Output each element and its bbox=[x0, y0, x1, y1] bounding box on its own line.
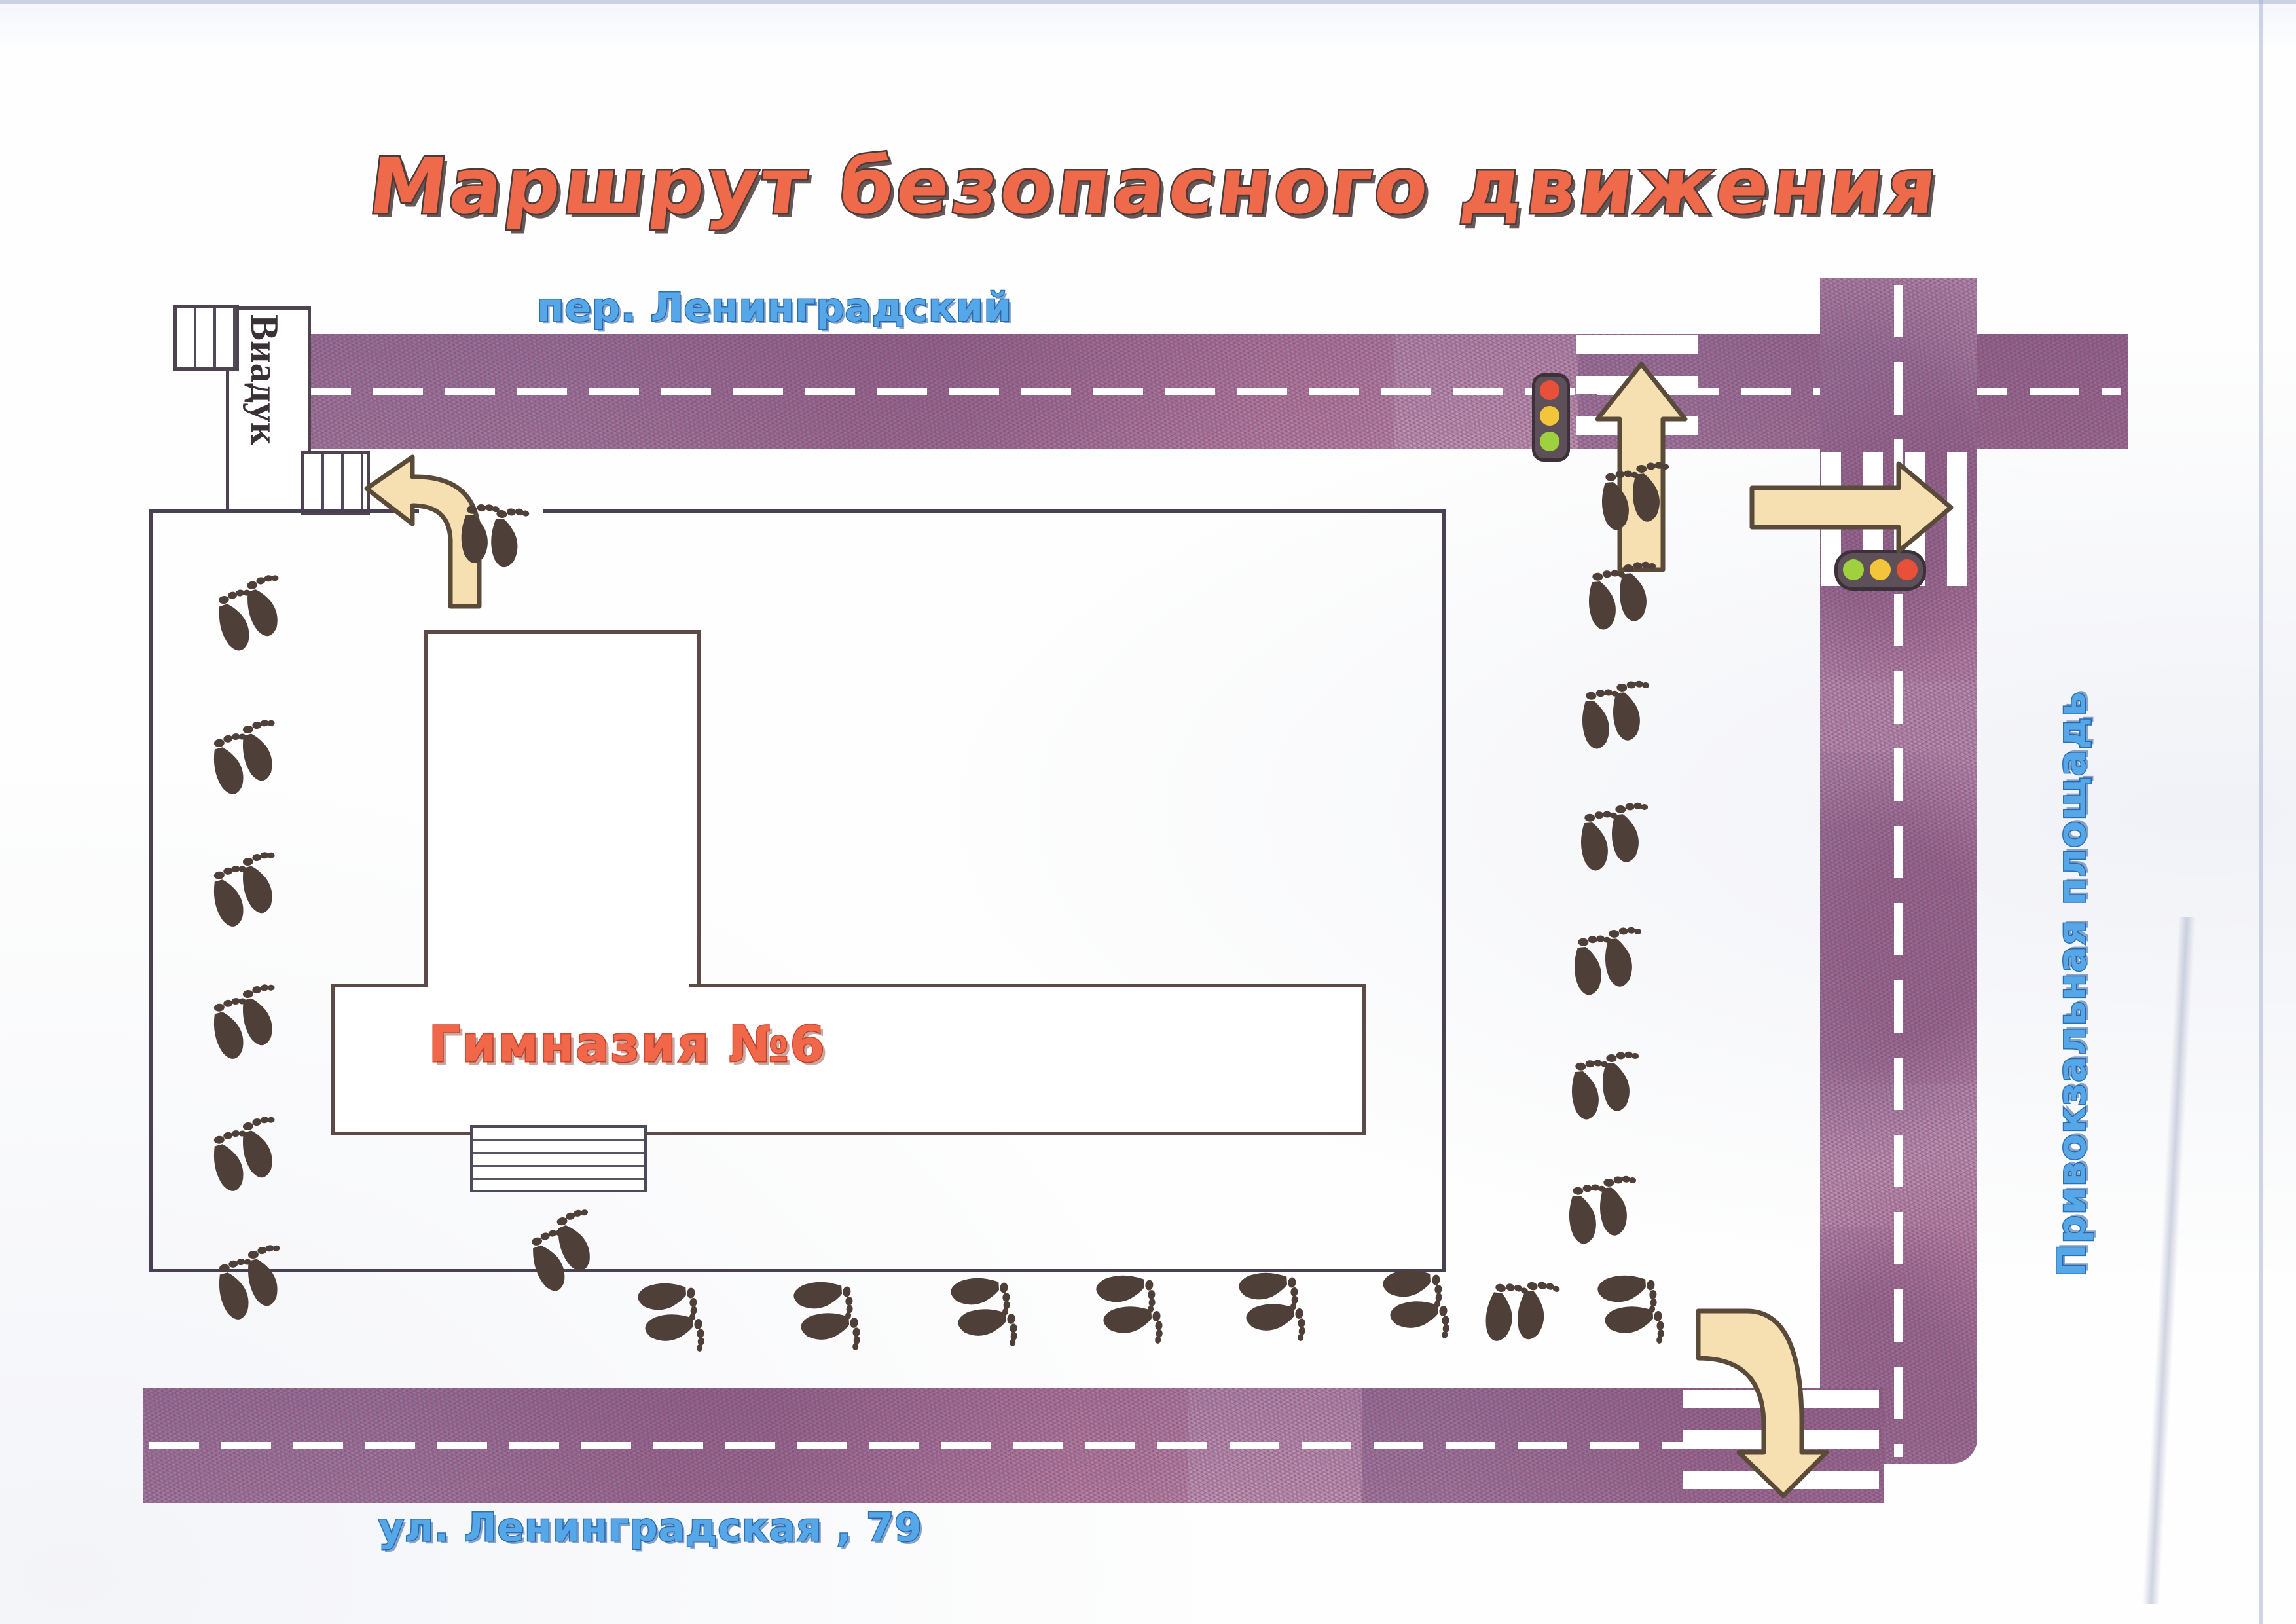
footprint-pair bbox=[1561, 913, 1647, 1016]
footprint-pair bbox=[1556, 1162, 1641, 1265]
street-label-bottom: ул. Ленинградская , 79 bbox=[378, 1505, 922, 1551]
footprint-pair bbox=[1073, 1261, 1179, 1349]
viaduct-steps-upper bbox=[173, 305, 239, 371]
footprint-pair bbox=[199, 1105, 287, 1211]
footprint-pair bbox=[928, 1263, 1034, 1352]
footprint-pair bbox=[199, 841, 287, 947]
signal-lamp-green bbox=[1540, 432, 1559, 451]
viaduct-label: Виадук bbox=[242, 314, 287, 445]
road-bottom-center-line bbox=[149, 1442, 1865, 1449]
footprint-pair bbox=[615, 1268, 721, 1357]
signal-lamp-yellow bbox=[1540, 406, 1559, 426]
street-label-right: Привокзальная площадь bbox=[2049, 691, 2095, 1277]
footprint-pair bbox=[1569, 667, 1654, 770]
school-label: Гимназия №6 bbox=[429, 1015, 826, 1073]
scan-edge-right bbox=[2259, 0, 2263, 1624]
signal-lamp-yellow bbox=[1870, 559, 1891, 580]
arrow-curve-down bbox=[1686, 1285, 1883, 1501]
footprint-pair bbox=[1559, 1037, 1644, 1141]
building-seam-mask-c bbox=[428, 980, 689, 995]
footprint-pair bbox=[445, 479, 537, 587]
signal-lamp-red bbox=[1540, 380, 1559, 400]
footprint-pair bbox=[771, 1267, 877, 1356]
footprint-pair bbox=[199, 973, 287, 1079]
footprint-pair bbox=[1576, 547, 1661, 651]
arrow-right bbox=[1747, 458, 1956, 557]
footprint-pair bbox=[1465, 1256, 1568, 1372]
traffic-light-vertical bbox=[1532, 373, 1570, 462]
page-title: Маршрут безопасного движения bbox=[365, 141, 1945, 231]
street-label-top: пер. Ленинградский bbox=[537, 285, 1012, 331]
footprint-pair bbox=[1360, 1255, 1466, 1344]
safe-route-map-poster: Маршрут безопасного движения Виадук пер.… bbox=[0, 0, 2296, 1624]
footprint-pair bbox=[1216, 1258, 1322, 1346]
paper-fold bbox=[2143, 917, 2196, 1604]
school-entrance-steps bbox=[470, 1125, 647, 1192]
footprint-pair bbox=[199, 709, 287, 815]
footprint-pair bbox=[1568, 788, 1653, 892]
footprint-pair bbox=[203, 563, 295, 671]
footprint-pair bbox=[1575, 1261, 1681, 1349]
scan-edge-top bbox=[0, 0, 2296, 4]
signal-lamp-red bbox=[1897, 559, 1918, 580]
footprint-pair bbox=[204, 1234, 293, 1340]
signal-lamp-green bbox=[1843, 559, 1864, 580]
